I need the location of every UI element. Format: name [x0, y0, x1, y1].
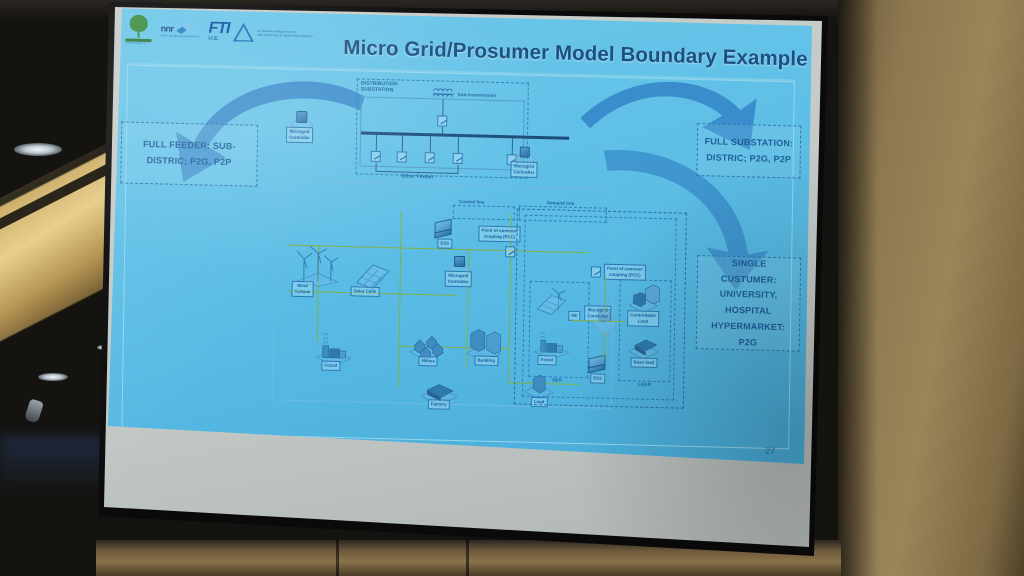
callout-line: DISTRIC; P2G, P2P [147, 153, 232, 171]
organization-logos: กระทรวงพลังงาน nnr สำนักงานนโยบายและแผนพ… [125, 15, 313, 50]
house-label: House [418, 356, 438, 367]
sub-transmission-label: Sub-transmission [458, 92, 497, 98]
callout-line: SINGLE CUSTUMER: [703, 255, 795, 289]
factory-label: Factory [428, 399, 450, 410]
fossil-right-label: Fossil [537, 355, 556, 366]
feeder-drop-wire [512, 138, 513, 154]
microgrid-controller-box-left [296, 111, 307, 123]
feeder-breaker-3[interactable] [425, 152, 435, 163]
callout-full-feeder[interactable]: FULL FEEDER: SUB- DISTRIC; P2G, P2P [120, 121, 258, 186]
callout-line: UNIVERSITY, [720, 287, 778, 304]
pcc-label-right: Point of common coupling (PCC) [604, 264, 646, 281]
nnr-swoosh-icon [176, 23, 192, 34]
building-label: Building [474, 355, 498, 366]
fti-triangle-icon [232, 22, 254, 43]
ess-right-label: ESS [590, 373, 605, 383]
substation-main-breaker[interactable] [437, 115, 447, 126]
fossil-left-label: Fossil [321, 361, 340, 372]
panel-seam [466, 540, 469, 576]
pcc-label-center: Point of common coupling (PCC) [478, 225, 520, 242]
microgrid-controller-box-center [454, 256, 465, 267]
microgrid-controller-label-center: Microgrid Controller [445, 271, 472, 287]
pcc-breaker-right[interactable] [591, 266, 601, 277]
tree-logo-caption: กระทรวงพลังงาน [125, 42, 151, 46]
page-number: 27 [765, 446, 775, 456]
right-wall-shadow [838, 0, 878, 576]
callout-full-substation[interactable]: FULL SUBSTATION: DISTRIC; P2G, P2P [696, 123, 801, 179]
panel-seam [336, 540, 339, 576]
fti-logo-icon: FTI I.I.E. สถาบันพลังงานเพื่ออุตสาหกรรม … [208, 21, 313, 44]
fti-logo-word: FTI [208, 21, 229, 36]
projected-slide-area: กระทรวงพลังงาน nnr สำนักงานนโยบายและแผนพ… [106, 8, 818, 468]
feeder-breaker-4[interactable] [453, 153, 463, 164]
ess-left-label: ESS [437, 238, 452, 248]
nnr-logo-caption: สำนักงานนโยบายและแผนพลังงาน [161, 35, 200, 40]
feeder-breaker-1[interactable] [371, 151, 381, 162]
feeder-drop-wire [430, 136, 431, 152]
page-title: Micro Grid/Prosumer Model Boundary Examp… [343, 36, 808, 72]
distribution-substation-label: DISTRIBUTION SUBSTATION [361, 80, 398, 93]
nnr-logo-icon: nnr สำนักงานนโยบายและแผนพลังงาน [161, 23, 200, 40]
other-feeder-bracket-end [457, 165, 458, 173]
transformer-drop-wire [442, 100, 444, 116]
base-load-label: Base load [630, 357, 657, 368]
feeder-drop-wire [458, 137, 459, 153]
callout-line: HYPERMARKET: P2G [702, 318, 794, 352]
other-feeder-bracket-end [375, 163, 376, 171]
microgrid-controller-box-feeder [520, 147, 530, 158]
control-line-boundary [453, 205, 515, 221]
presentation-slide: กระทรวงพลังงาน nnr สำนักงานนโยบายและแผนพ… [106, 8, 818, 468]
callout-line: HOSPITAL [725, 303, 772, 320]
microgrid-controller-label-left: Microgrid Controller [286, 127, 313, 143]
feeder-drop-wire [376, 135, 377, 151]
ceiling-downlight [38, 373, 68, 381]
callout-single-customer[interactable]: SINGLE CUSTUMER: UNIVERSITY, HOSPITAL HY… [696, 255, 801, 352]
nnr-logo-word: nnr [161, 23, 174, 33]
other-feeder-label: Other Feeder [401, 174, 433, 181]
microgrid-controller-label-right: Microgrid Controller [584, 305, 611, 321]
feeder-drop-wire [402, 136, 403, 152]
feeder-breaker-2[interactable] [397, 151, 407, 162]
fti-logo-caption: สถาบันพลังงานเพื่ออุตสาหกรรม THE INSTITU… [257, 29, 312, 39]
microgrid-controller-label-feeder: Microgrid Controller [510, 161, 537, 177]
tree-logo-icon: กระทรวงพลังงาน [125, 15, 151, 46]
track-spotlight [24, 398, 44, 423]
load-group-label: LOAD [638, 382, 651, 388]
ceiling-downlight [14, 143, 62, 156]
pcc-breaker-center[interactable] [505, 246, 515, 257]
der-group-label: DER [552, 377, 562, 383]
wind-turbine-label: Wind Turbine [291, 281, 313, 297]
controllable-load-label: Controllable Load [627, 310, 659, 327]
callout-line: DISTRIC; P2G, P2P [706, 150, 791, 168]
solar-cells-label: Solar Cells [351, 286, 380, 297]
